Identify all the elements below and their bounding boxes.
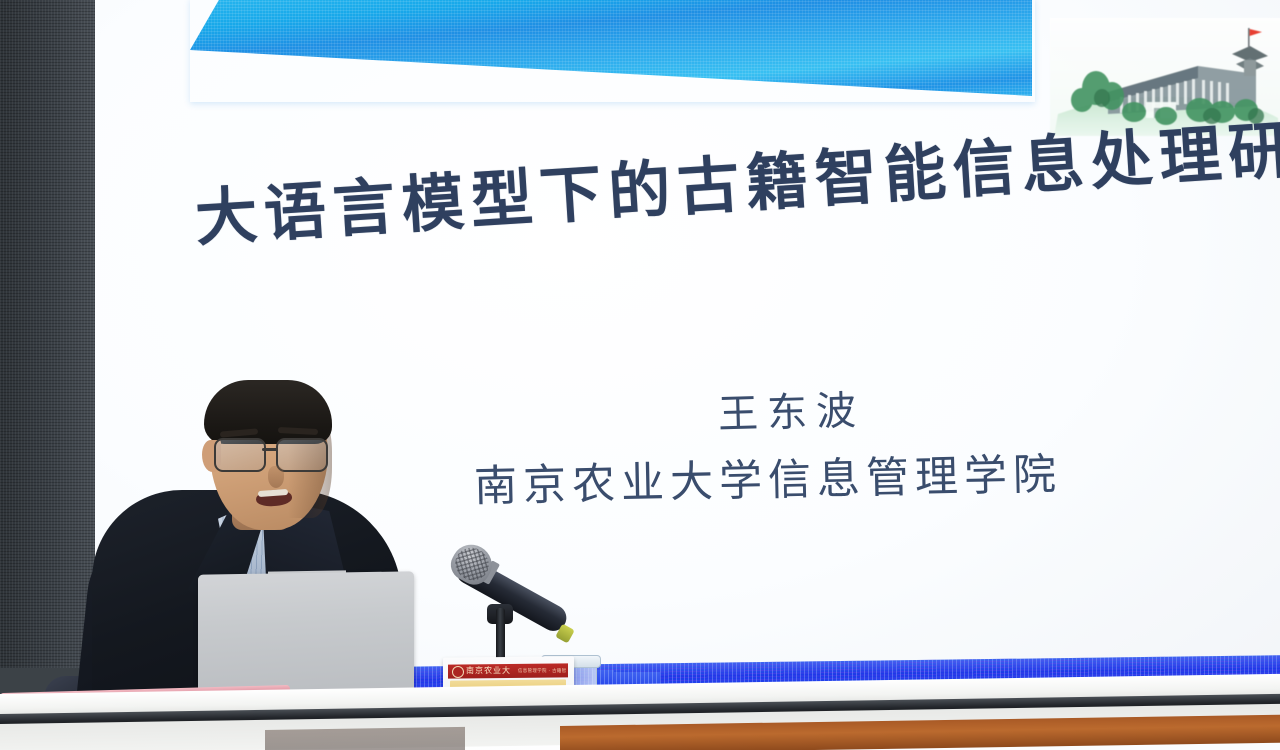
eyeglasses-icon bbox=[212, 436, 334, 470]
nameplate-org-line: 南京农业大学 bbox=[466, 665, 510, 677]
lecture-screenshot: 大语言模型下的古籍智能信息处理研究 王东波 南京农业大学信息管理学院 bbox=[0, 0, 1280, 750]
slide-author: 王东波 bbox=[717, 378, 866, 440]
eyeglass-lens-left bbox=[214, 438, 266, 472]
desk-shadow-left bbox=[265, 727, 465, 750]
presenter-nose bbox=[268, 466, 284, 488]
left-wall-panel bbox=[0, 0, 95, 750]
nameplate-org-sub: 信息管理学院 · 古籍智能信息处理 bbox=[518, 667, 566, 676]
university-seal-icon bbox=[452, 666, 464, 678]
eyeglass-bridge bbox=[262, 448, 278, 451]
eyeglass-lens-right bbox=[276, 438, 328, 472]
slide-affiliation: 南京农业大学信息管理学院 bbox=[473, 440, 1062, 514]
